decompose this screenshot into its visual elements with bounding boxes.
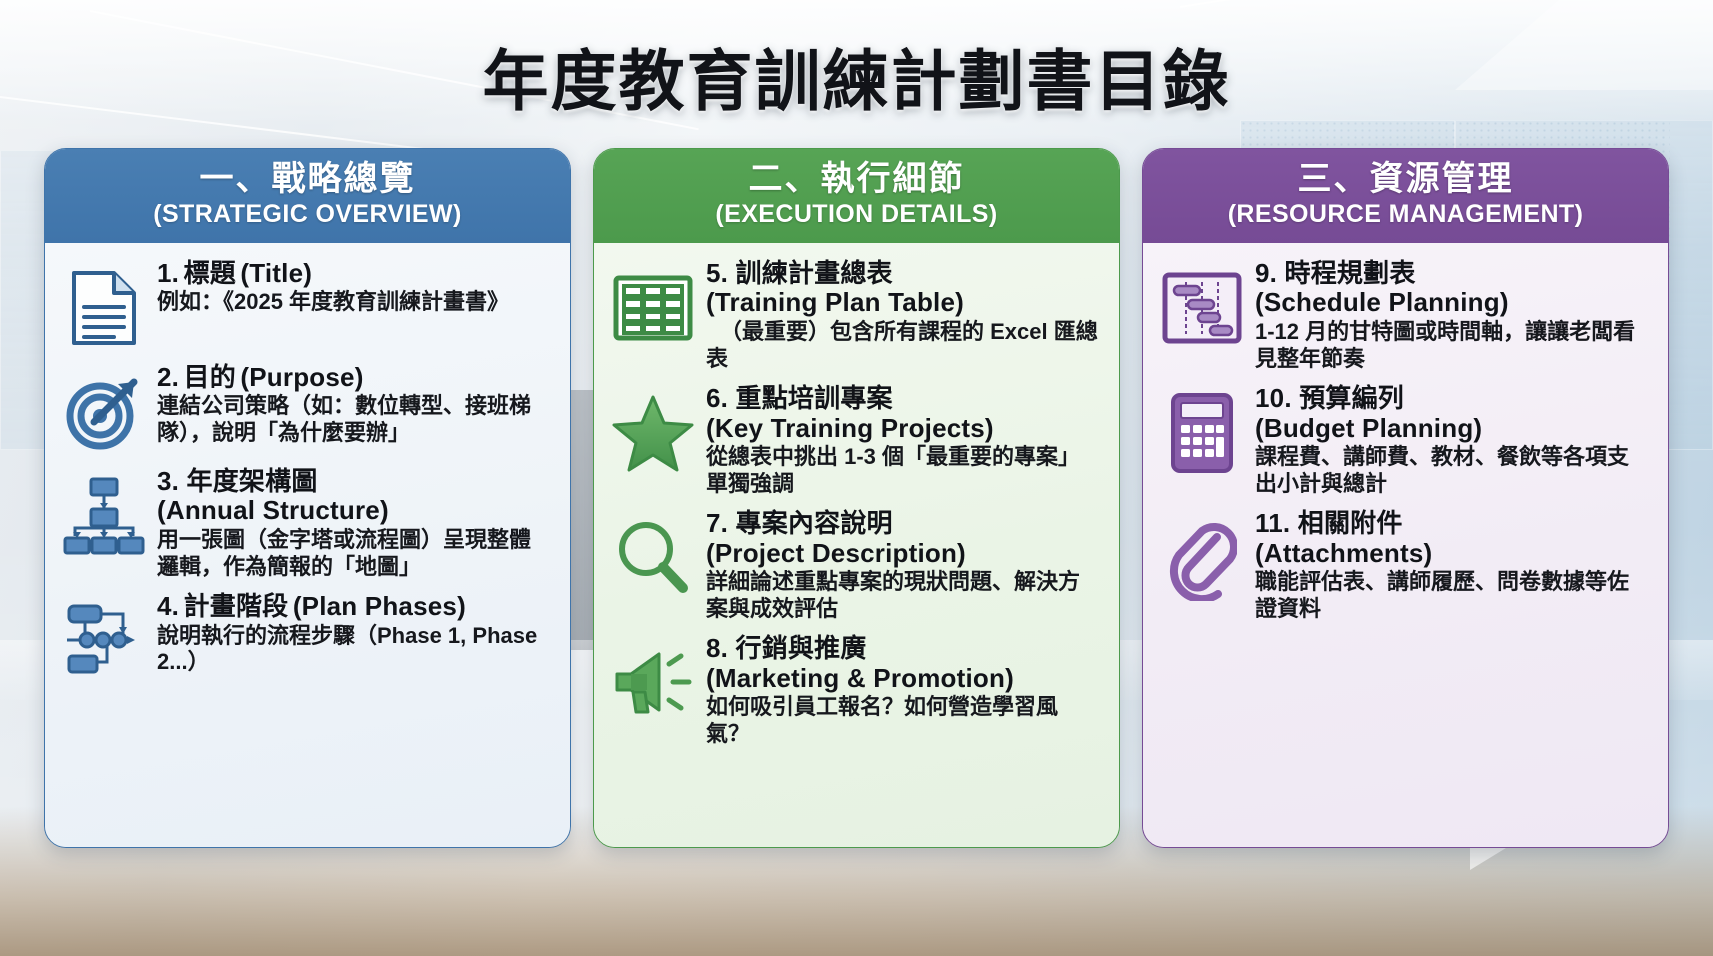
list-item-title-en: (Training Plan Table): [706, 288, 1101, 318]
list-item-desc: 說明執行的流程步驟（Phase 1, Phase 2...）: [157, 623, 552, 676]
calculator-icon: [1159, 390, 1245, 476]
list-item-number: 2.: [157, 362, 179, 392]
list-item[interactable]: 9. 時程規劃表 (Schedule Planning) 1-12 月的甘特圖或…: [1159, 259, 1650, 372]
list-item-title-en: (Plan Phases): [293, 591, 466, 621]
list-item-title-cn: 10. 預算編列: [1255, 384, 1650, 414]
list-item-desc: 課程費、講師費、教材、餐飲等各項支出小計與總計: [1255, 444, 1650, 497]
megaphone-icon: [610, 640, 696, 726]
list-item-desc: 如何吸引員工報名？如何營造學習風氣？: [706, 694, 1101, 747]
column-heading-cn: 一、戰略總覽: [53, 159, 562, 199]
columns-container: 一、戰略總覽 (STRATEGIC OVERVIEW): [44, 148, 1669, 848]
column-heading-en: (EXECUTION DETAILS): [602, 200, 1111, 229]
list-item[interactable]: 8. 行銷與推廣 (Marketing & Promotion) 如何吸引員工報…: [610, 634, 1101, 747]
list-item[interactable]: 2. 目的 (Purpose) 連結公司策略（如：數位轉型、接班梯隊），說明「為…: [61, 363, 552, 455]
list-item-title-en: (Key Training Projects): [706, 414, 1101, 444]
list-item-title-en: (Schedule Planning): [1255, 288, 1650, 318]
list-item-title-en: (Purpose): [240, 362, 363, 392]
list-item-title-cn: 標題: [184, 258, 236, 288]
column-body-execution-details: 5. 訓練計畫總表 (Training Plan Table) （最重要）包含所…: [594, 243, 1119, 847]
column-header-execution-details: 二、執行細節 (EXECUTION DETAILS): [594, 149, 1119, 243]
page-title: 年度教育訓練計劃書目錄: [0, 28, 1713, 124]
column-strategic-overview: 一、戰略總覽 (STRATEGIC OVERVIEW): [44, 148, 571, 848]
list-item[interactable]: 1. 標題 (Title) 例如：《2025 年度教育訓練計畫書》: [61, 259, 552, 351]
list-item-title-en: (Title): [240, 258, 312, 288]
list-item[interactable]: 11. 相關附件 (Attachments) 職能評估表、講師履歷、問卷數據等佐…: [1159, 509, 1650, 622]
background-ceiling-line: [1180, 0, 1713, 8]
list-item-text: 6. 重點培訓專案 (Key Training Projects) 從總表中挑出…: [706, 384, 1101, 497]
org-chart-icon: [61, 473, 147, 559]
list-item-desc: 詳細論述重點專案的現狀問題、解決方案與成效評估: [706, 569, 1101, 622]
list-item-title-cn: 3. 年度架構圖: [157, 467, 552, 497]
gantt-chart-icon: [1159, 265, 1245, 351]
column-heading-en: (STRATEGIC OVERVIEW): [53, 200, 562, 229]
star-icon: [610, 390, 696, 476]
column-resource-management: 三、資源管理 (RESOURCE MANAGEMENT): [1142, 148, 1669, 848]
target-icon: [61, 369, 147, 455]
column-body-strategic-overview: 1. 標題 (Title) 例如：《2025 年度教育訓練計畫書》: [45, 243, 570, 847]
list-item[interactable]: 7. 專案內容說明 (Project Description) 詳細論述重點專案…: [610, 509, 1101, 622]
list-item[interactable]: 6. 重點培訓專案 (Key Training Projects) 從總表中挑出…: [610, 384, 1101, 497]
list-item-number: 1.: [157, 258, 179, 288]
column-heading-cn: 三、資源管理: [1151, 159, 1660, 199]
list-item-text: 5. 訓練計畫總表 (Training Plan Table) （最重要）包含所…: [706, 259, 1101, 372]
list-item[interactable]: 10. 預算編列 (Budget Planning) 課程費、講師費、教材、餐飲…: [1159, 384, 1650, 497]
flowchart-icon: [61, 598, 147, 684]
slide-canvas: 年度教育訓練計劃書目錄 一、戰略總覽 (STRATEGIC OVERVIEW): [0, 0, 1713, 956]
list-item-title-cn: 目的: [184, 362, 236, 392]
column-body-resource-management: 9. 時程規劃表 (Schedule Planning) 1-12 月的甘特圖或…: [1143, 243, 1668, 847]
list-item-title-en: (Budget Planning): [1255, 414, 1650, 444]
list-item[interactable]: 5. 訓練計畫總表 (Training Plan Table) （最重要）包含所…: [610, 259, 1101, 372]
list-item-number: 4.: [157, 591, 179, 621]
list-item-text: 2. 目的 (Purpose) 連結公司策略（如：數位轉型、接班梯隊），說明「為…: [157, 363, 552, 446]
list-item-desc: 從總表中挑出 1-3 個「最重要的專案」單獨強調: [706, 444, 1101, 497]
list-item-title-cn: 6. 重點培訓專案: [706, 384, 1101, 414]
list-item-text: 3. 年度架構圖 (Annual Structure) 用一張圖（金字塔或流程圖…: [157, 467, 552, 580]
document-icon: [61, 265, 147, 351]
list-item-title-en: (Attachments): [1255, 539, 1650, 569]
list-item-text: 4. 計畫階段 (Plan Phases) 說明執行的流程步驟（Phase 1,…: [157, 592, 552, 675]
column-execution-details: 二、執行細節 (EXECUTION DETAILS): [593, 148, 1120, 848]
list-item-title-cn: 8. 行銷與推廣: [706, 634, 1101, 664]
list-item-text: 9. 時程規劃表 (Schedule Planning) 1-12 月的甘特圖或…: [1255, 259, 1650, 372]
list-item-title-cn: 7. 專案內容說明: [706, 509, 1101, 539]
list-item-title-en: (Annual Structure): [157, 496, 552, 526]
list-item-desc: 職能評估表、講師履歷、問卷數據等佐證資料: [1255, 569, 1650, 622]
column-heading-en: (RESOURCE MANAGEMENT): [1151, 200, 1660, 229]
list-item-desc: 1-12 月的甘特圖或時間軸，讓讓老闆看見整年節奏: [1255, 319, 1650, 372]
list-item-title-cn: 9. 時程規劃表: [1255, 259, 1650, 289]
list-item-title-en: (Project Description): [706, 539, 1101, 569]
list-item[interactable]: 4. 計畫階段 (Plan Phases) 說明執行的流程步驟（Phase 1,…: [61, 592, 552, 684]
list-item-text: 1. 標題 (Title) 例如：《2025 年度教育訓練計畫書》: [157, 259, 552, 316]
magnifier-icon: [610, 515, 696, 601]
paperclip-icon: [1159, 515, 1245, 601]
list-item-title-cn: 5. 訓練計畫總表: [706, 259, 1101, 289]
table-icon: [610, 265, 696, 351]
list-item[interactable]: 3. 年度架構圖 (Annual Structure) 用一張圖（金字塔或流程圖…: [61, 467, 552, 580]
column-header-strategic-overview: 一、戰略總覽 (STRATEGIC OVERVIEW): [45, 149, 570, 243]
list-item-desc: （最重要）包含所有課程的 Excel 匯總表: [706, 319, 1101, 372]
list-item-title-en: (Marketing & Promotion): [706, 664, 1101, 694]
list-item-text: 11. 相關附件 (Attachments) 職能評估表、講師履歷、問卷數據等佐…: [1255, 509, 1650, 622]
list-item-desc: 例如：《2025 年度教育訓練計畫書》: [157, 289, 552, 315]
column-header-resource-management: 三、資源管理 (RESOURCE MANAGEMENT): [1143, 149, 1668, 243]
list-item-text: 10. 預算編列 (Budget Planning) 課程費、講師費、教材、餐飲…: [1255, 384, 1650, 497]
list-item-text: 8. 行銷與推廣 (Marketing & Promotion) 如何吸引員工報…: [706, 634, 1101, 747]
list-item-title-cn: 11. 相關附件: [1255, 509, 1650, 539]
column-heading-cn: 二、執行細節: [602, 159, 1111, 199]
list-item-desc: 用一張圖（金字塔或流程圖）呈現整體邏輯，作為簡報的「地圖」: [157, 527, 552, 580]
list-item-title-cn: 計畫階段: [184, 591, 289, 621]
list-item-text: 7. 專案內容說明 (Project Description) 詳細論述重點專案…: [706, 509, 1101, 622]
list-item-desc: 連結公司策略（如：數位轉型、接班梯隊），說明「為什麼要辦」: [157, 393, 552, 446]
